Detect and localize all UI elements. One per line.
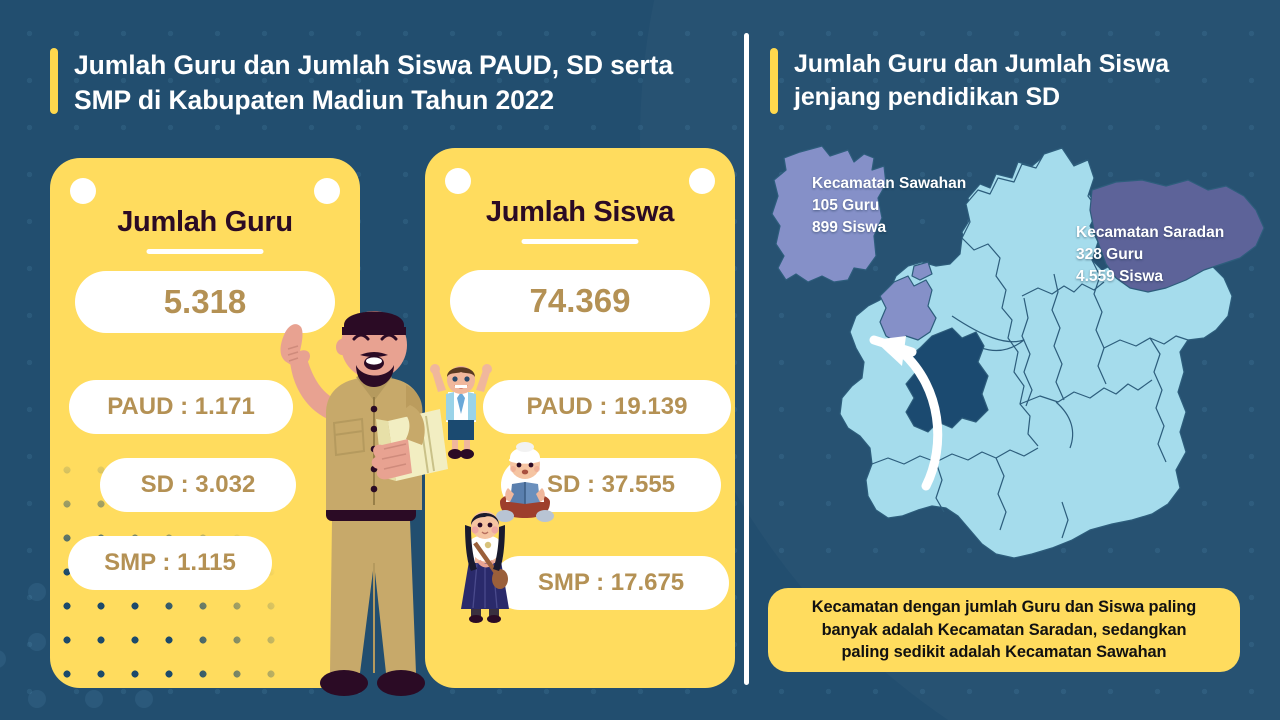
guru-sd-value: SD : 3.032 xyxy=(100,458,296,512)
siswa-smp-value: SMP : 17.675 xyxy=(493,556,729,610)
punch-hole-right-icon xyxy=(314,178,340,204)
right-header-line1: Jumlah Guru dan Jumlah Siswa xyxy=(794,48,1169,81)
siswa-total-value: 74.369 xyxy=(450,270,710,332)
left-header-line1: Jumlah Guru dan Jumlah Siswa PAUD, SD se… xyxy=(74,48,673,83)
header-accent-bar-right xyxy=(770,48,778,114)
caption-line2: banyak adalah Kecamatan Saradan, sedangk… xyxy=(812,619,1196,642)
card-title-guru: Jumlah Guru xyxy=(50,206,360,239)
left-header-text: Jumlah Guru dan Jumlah Siswa PAUD, SD se… xyxy=(74,48,673,118)
map-label-saradan-siswa: 4.559 Siswa xyxy=(1076,266,1224,288)
map-label-sawahan-guru: 105 Guru xyxy=(812,195,966,217)
map-label-sawahan-name: Kecamatan Sawahan xyxy=(812,173,966,195)
card-title-siswa: Jumlah Siswa xyxy=(425,196,735,229)
guru-smp-value: SMP : 1.115 xyxy=(68,536,272,590)
left-section-header: Jumlah Guru dan Jumlah Siswa PAUD, SD se… xyxy=(50,48,730,118)
caption-line3: paling sedikit adalah Kecamatan Sawahan xyxy=(812,641,1196,664)
header-accent-bar-left xyxy=(50,48,58,114)
map-label-saradan: Kecamatan Saradan 328 Guru 4.559 Siswa xyxy=(1076,222,1224,288)
map-region-sawahan-on-map xyxy=(880,276,936,342)
guru-paud-value: PAUD : 1.171 xyxy=(69,380,293,434)
caption-line1: Kecamatan dengan jumlah Guru dan Siswa p… xyxy=(812,596,1196,619)
panel-divider xyxy=(744,33,749,685)
left-header-line2: SMP di Kabupaten Madiun Tahun 2022 xyxy=(74,83,673,118)
right-header-line2: jenjang pendidikan SD xyxy=(794,81,1169,114)
card-underline xyxy=(522,239,639,244)
card-underline xyxy=(147,249,264,254)
summary-caption-text: Kecamatan dengan jumlah Guru dan Siswa p… xyxy=(812,596,1196,664)
student-smp-illustration xyxy=(455,505,515,623)
map-label-saradan-name: Kecamatan Saradan xyxy=(1076,222,1224,244)
punch-hole-right-icon xyxy=(689,168,715,194)
punch-hole-left-icon xyxy=(445,168,471,194)
right-section-header: Jumlah Guru dan Jumlah Siswa jenjang pen… xyxy=(770,48,1240,114)
map-label-sawahan: Kecamatan Sawahan 105 Guru 899 Siswa xyxy=(812,173,966,239)
student-paud-illustration xyxy=(430,362,492,460)
punch-hole-left-icon xyxy=(70,178,96,204)
summary-caption-box: Kecamatan dengan jumlah Guru dan Siswa p… xyxy=(768,588,1240,672)
right-header-text: Jumlah Guru dan Jumlah Siswa jenjang pen… xyxy=(794,48,1169,114)
map-label-sawahan-siswa: 899 Siswa xyxy=(812,217,966,239)
map-label-saradan-guru: 328 Guru xyxy=(1076,244,1224,266)
siswa-paud-value: PAUD : 19.139 xyxy=(483,380,731,434)
